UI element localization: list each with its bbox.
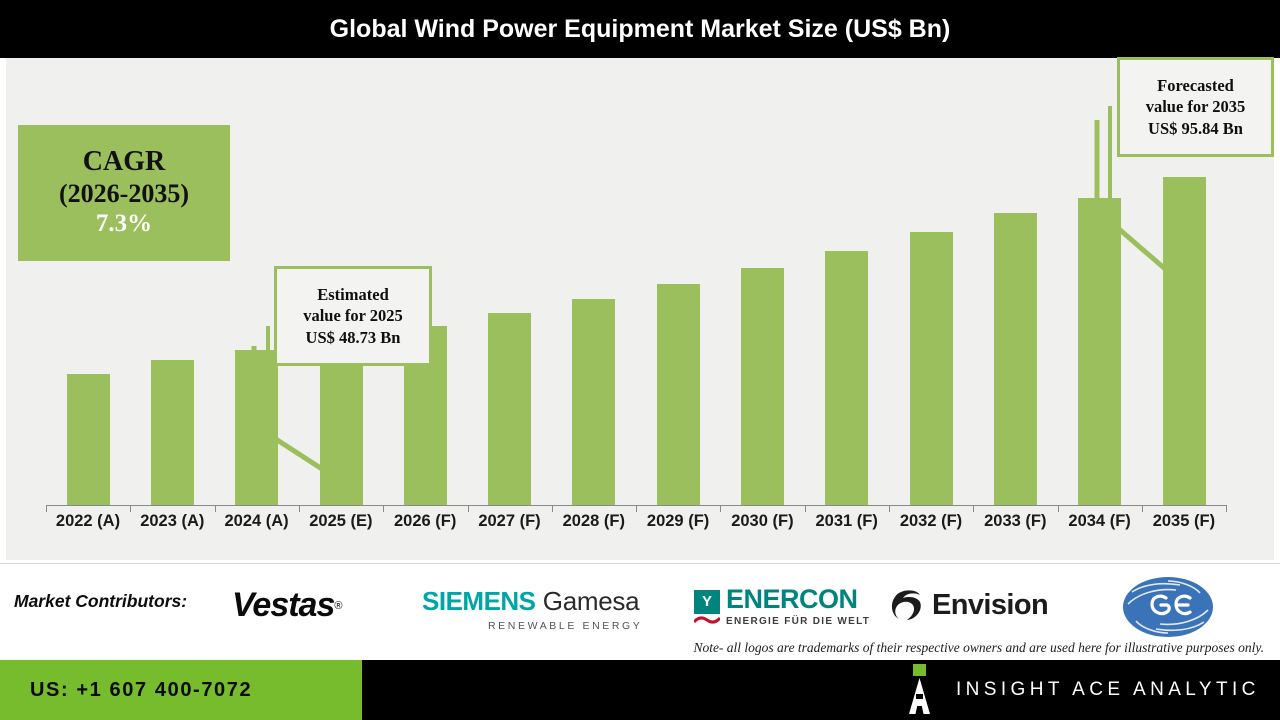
x-axis-tick [1226, 505, 1227, 512]
x-axis-tick [552, 505, 553, 512]
x-axis-tick [299, 505, 300, 512]
market-contributors-label: Market Contributors: [14, 591, 187, 612]
x-axis-tick [46, 505, 47, 512]
x-axis-label: 2030 (F) [720, 512, 804, 531]
x-axis-label: 2026 (F) [383, 512, 467, 531]
x-axis-tick [1058, 505, 1059, 512]
header-bar: Global Wind Power Equipment Market Size … [0, 0, 1280, 58]
bar-2023[interactable] [151, 360, 194, 505]
x-axis-tick [805, 505, 806, 512]
x-axis-tick [720, 505, 721, 512]
callout-estimated-line3: US$ 48.73 Bn [306, 327, 401, 348]
market-contributors-strip: Market Contributors: Vestas® SIEMENS Gam… [0, 563, 1280, 660]
x-axis-label: 2034 (F) [1058, 512, 1142, 531]
footer-phone-block: US: +1 607 400-7072 [0, 660, 362, 720]
infographic-root: Global Wind Power Equipment Market Size … [0, 0, 1280, 720]
envision-logo: Envision [890, 588, 1048, 622]
enercon-mark-icon: Y [694, 590, 720, 624]
siemens-gamesa-tagline: RENEWABLE ENERGY [488, 620, 642, 632]
x-axis-label: 2032 (F) [889, 512, 973, 531]
x-axis-label: 2033 (F) [973, 512, 1057, 531]
x-axis-label: 2028 (F) [552, 512, 636, 531]
ge-monogram-icon [1122, 576, 1214, 638]
enercon-mark-letter: Y [699, 594, 715, 610]
insight-ace-logo-icon [900, 664, 940, 716]
registered-trademark-icon: ® [334, 600, 341, 612]
enercon-logo-text: ENERCON [726, 586, 858, 613]
x-axis-label: 2023 (A) [130, 512, 214, 531]
footer-phone-number[interactable]: US: +1 607 400-7072 [30, 679, 252, 702]
envision-swirl-icon [890, 588, 926, 622]
x-axis-tick [383, 505, 384, 512]
bar-2027[interactable] [488, 313, 531, 505]
bar-2035[interactable] [1163, 177, 1206, 505]
x-axis-tick [1142, 505, 1143, 512]
bar-2031[interactable] [825, 251, 868, 505]
callout-forecasted-line3: US$ 95.84 Bn [1148, 118, 1243, 139]
vestas-logo: Vestas® [232, 586, 341, 625]
callout-forecasted-line2: value for 2035 [1146, 96, 1246, 117]
cagr-label: CAGR [83, 146, 165, 178]
cagr-badge: CAGR (2026-2035) 7.3% [18, 125, 230, 261]
siemens-gamesa-logo: SIEMENS Gamesa RENEWABLE ENERGY [422, 586, 642, 632]
enercon-wave-icon [694, 616, 720, 624]
footer-brand-name: INSIGHT ACE ANALYTIC [956, 679, 1260, 701]
callout-estimated-line1: Estimated [317, 284, 389, 305]
x-axis-label: 2029 (F) [636, 512, 720, 531]
bar-2034[interactable] [1078, 198, 1121, 505]
trademark-note: Note- all logos are trademarks of their … [693, 640, 1264, 656]
vestas-logo-text: Vestas [232, 586, 334, 625]
ge-logo [1122, 576, 1214, 638]
callout-estimated-2025: Estimated value for 2025 US$ 48.73 Bn [274, 266, 432, 366]
bar-2033[interactable] [994, 213, 1037, 505]
envision-logo-text: Envision [932, 589, 1048, 622]
x-axis-label: 2022 (A) [46, 512, 130, 531]
page-title: Global Wind Power Equipment Market Size … [330, 15, 951, 44]
x-axis-label: 2031 (F) [805, 512, 889, 531]
x-axis-tick [130, 505, 131, 512]
callout-forecasted-line1: Forecasted [1157, 75, 1234, 96]
x-axis-label: 2024 (A) [215, 512, 299, 531]
gamesa-logo-text: Gamesa [543, 586, 639, 616]
x-axis-tick [215, 505, 216, 512]
footer-brand: INSIGHT ACE ANALYTIC [900, 660, 1260, 720]
x-axis-tick [636, 505, 637, 512]
x-axis-label: 2035 (F) [1142, 512, 1226, 531]
bar-2022[interactable] [67, 374, 110, 505]
chart-panel: 2022 (A)2023 (A)2024 (A)2025 (E)2026 (F)… [6, 58, 1274, 560]
callout-forecasted-2035: Forecasted value for 2035 US$ 95.84 Bn [1117, 57, 1274, 157]
bar-2029[interactable] [657, 284, 700, 505]
x-axis-tick [468, 505, 469, 512]
bar-2028[interactable] [572, 299, 615, 505]
enercon-tagline: ENERGIE FÜR DIE WELT [726, 616, 870, 627]
enercon-logo: Y ENERCON ENERGIE FÜR DIE WELT [694, 586, 870, 627]
callout-estimated-line2: value for 2025 [303, 305, 403, 326]
x-axis-tick [889, 505, 890, 512]
x-axis-label: 2027 (F) [468, 512, 552, 531]
x-axis-label: 2025 (E) [299, 512, 383, 531]
siemens-logo-text: SIEMENS [422, 586, 536, 616]
x-axis-tick [973, 505, 974, 512]
footer-bar: US: +1 607 400-7072 INSIGHT ACE ANALYTIC [0, 660, 1280, 720]
bar-2030[interactable] [741, 268, 784, 505]
bar-2024[interactable] [235, 350, 278, 505]
bar-2032[interactable] [910, 232, 953, 505]
cagr-value: 7.3% [96, 208, 152, 239]
cagr-period: (2026-2035) [59, 179, 189, 209]
